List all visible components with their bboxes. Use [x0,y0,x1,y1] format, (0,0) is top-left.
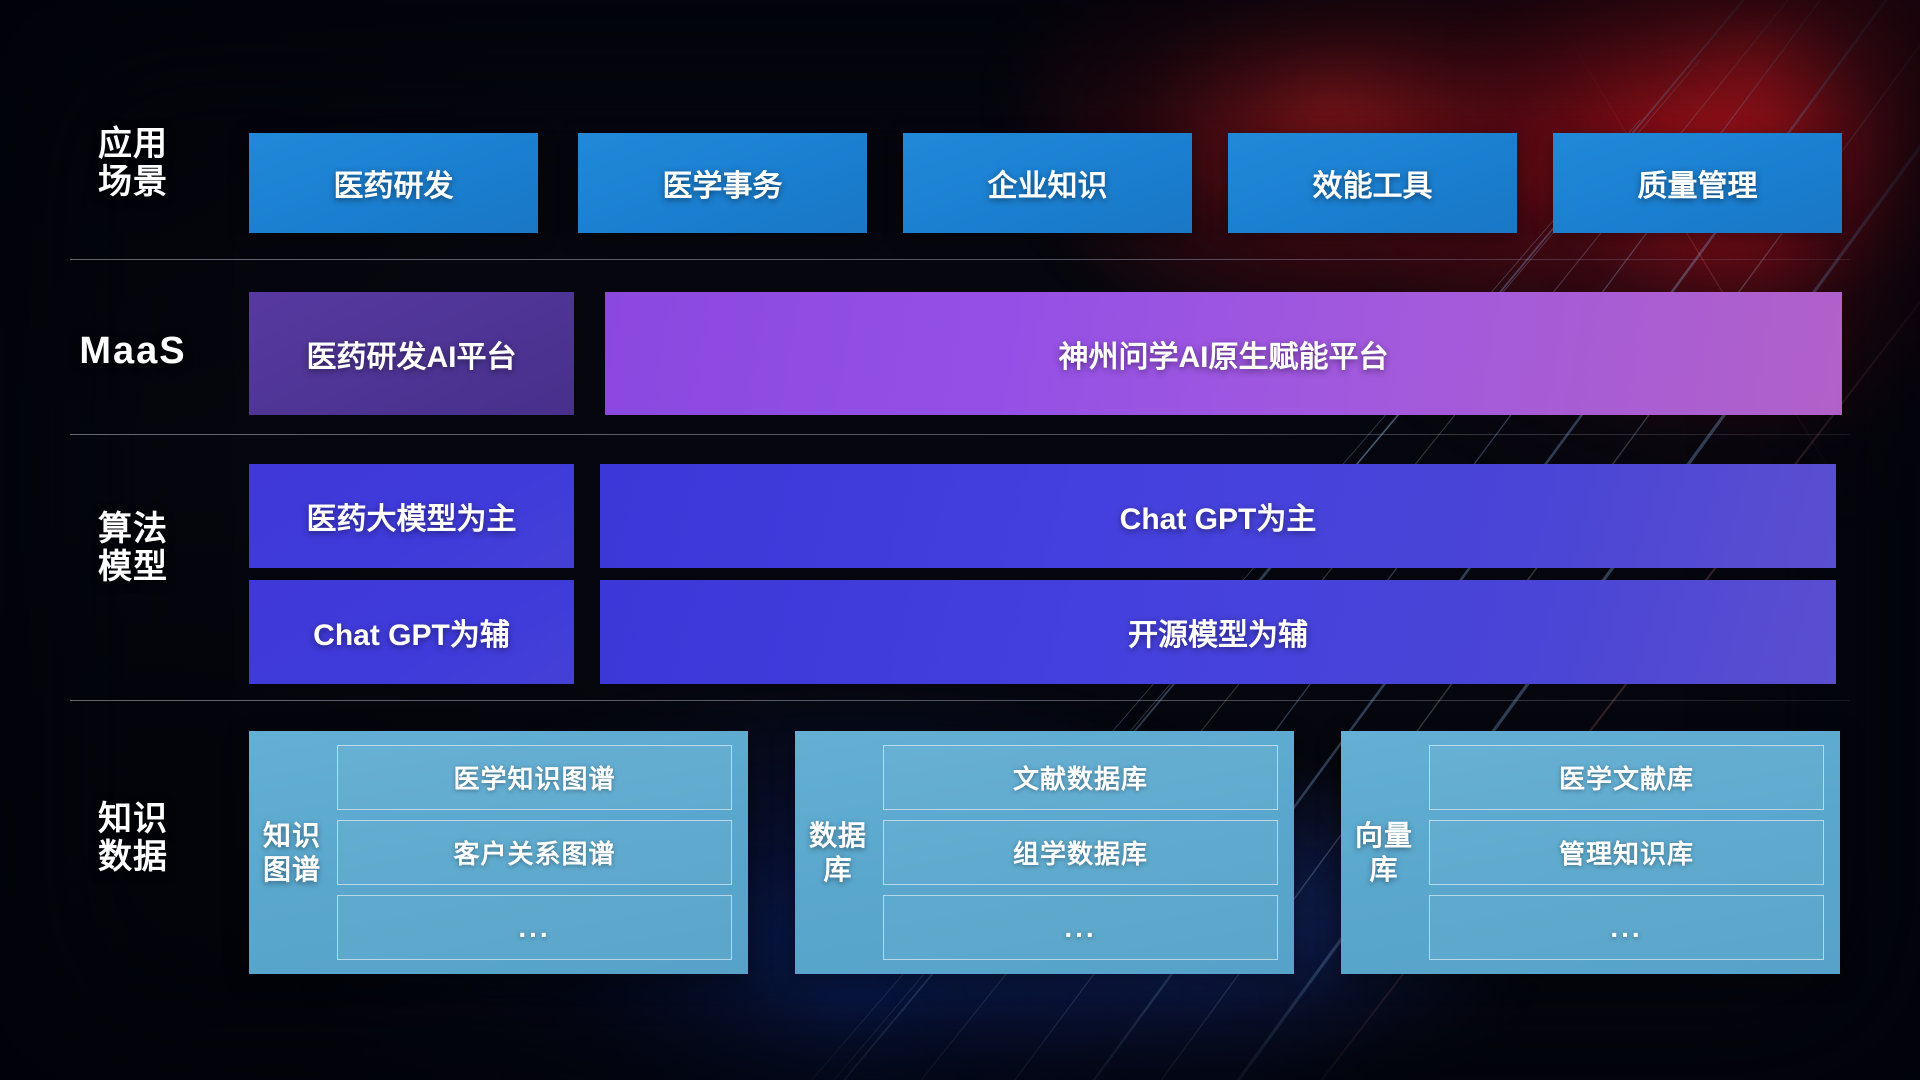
app-scenario-box-4[interactable]: 效能工具 [1228,133,1517,233]
knowledge-panel-3[interactable]: 向量库 医学文献库 管理知识库 ... [1341,731,1840,974]
app-scenario-label-3: 企业知识 [988,161,1108,205]
app-scenario-box-2[interactable]: 医学事务 [578,133,867,233]
algorithm-label-primary-right: Chat GPT为主 [1120,494,1317,538]
row-label-application-scenario: 应用 场景 [78,125,188,201]
maas-platform-box-right[interactable]: 神州问学AI原生赋能平台 [605,292,1842,415]
algorithm-label-secondary-right: 开源模型为辅 [1128,610,1308,654]
knowledge-panel-items-1: 医学知识图谱 客户关系图谱 ... [337,745,732,960]
row-label-algorithm-model: 算法 模型 [78,510,188,586]
knowledge-item-2-2[interactable]: 组学数据库 [883,820,1278,885]
divider-after-maas [70,434,1850,435]
maas-platform-box-left[interactable]: 医药研发AI平台 [249,292,574,415]
knowledge-item-3-3[interactable]: ... [1429,895,1824,960]
app-scenario-label-1: 医药研发 [334,161,454,205]
algorithm-label-secondary-left: Chat GPT为辅 [313,610,510,654]
knowledge-panel-items-2: 文献数据库 组学数据库 ... [883,745,1278,960]
knowledge-panel-title-1: 知识图谱 [261,745,323,960]
knowledge-panel-items-3: 医学文献库 管理知识库 ... [1429,745,1824,960]
maas-platform-label-left: 医药研发AI平台 [307,332,517,376]
knowledge-panel-title-3: 向量库 [1353,745,1415,960]
row-label-knowledge-data: 知识 数据 [78,800,188,876]
app-scenario-label-2: 医学事务 [663,161,783,205]
knowledge-panel-1[interactable]: 知识图谱 医学知识图谱 客户关系图谱 ... [249,731,748,974]
algorithm-box-secondary-right[interactable]: 开源模型为辅 [600,580,1836,684]
app-scenario-label-4: 效能工具 [1313,161,1433,205]
maas-platform-label-right: 神州问学AI原生赋能平台 [1059,332,1389,376]
divider-after-algorithm-model [70,700,1850,701]
knowledge-panel-2[interactable]: 数据库 文献数据库 组学数据库 ... [795,731,1294,974]
app-scenario-box-1[interactable]: 医药研发 [249,133,538,233]
app-scenario-box-3[interactable]: 企业知识 [903,133,1192,233]
algorithm-box-primary-left[interactable]: 医药大模型为主 [249,464,574,568]
knowledge-item-3-2[interactable]: 管理知识库 [1429,820,1824,885]
algorithm-label-primary-left: 医药大模型为主 [307,494,517,538]
knowledge-item-2-1[interactable]: 文献数据库 [883,745,1278,810]
knowledge-item-1-3[interactable]: ... [337,895,732,960]
app-scenario-box-5[interactable]: 质量管理 [1553,133,1842,233]
knowledge-item-3-1[interactable]: 医学文献库 [1429,745,1824,810]
row-label-maas: MaaS [68,330,198,373]
app-scenario-label-5: 质量管理 [1638,161,1758,205]
divider-after-application-scenario [70,259,1850,260]
knowledge-item-2-3[interactable]: ... [883,895,1278,960]
knowledge-item-1-1[interactable]: 医学知识图谱 [337,745,732,810]
knowledge-panel-title-2: 数据库 [807,745,869,960]
algorithm-box-primary-right[interactable]: Chat GPT为主 [600,464,1836,568]
architecture-diagram: 应用 场景 MaaS 算法 模型 知识 数据 医药研发 医学事务 企业知识 效能… [0,0,1920,1080]
knowledge-item-1-2[interactable]: 客户关系图谱 [337,820,732,885]
algorithm-box-secondary-left[interactable]: Chat GPT为辅 [249,580,574,684]
